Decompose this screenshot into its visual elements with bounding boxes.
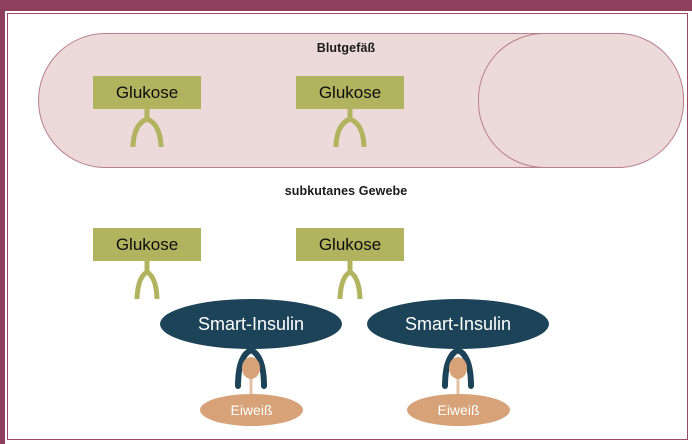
smart-insulin-unit-1: Smart-Insulin Eiweiß (160, 299, 342, 424)
frame-left-band (0, 0, 5, 444)
subcutaneous-tissue-label: subkutanes Gewebe (0, 184, 692, 198)
smart-insulin-unit-2: Smart-Insulin Eiweiß (367, 299, 549, 424)
glucose-unit-vessel-1: Glukose (93, 76, 201, 148)
glucose-label: Glukose (93, 76, 201, 109)
protein-label: Eiweiß (200, 394, 303, 426)
diagram-canvas: Blutgefäß Glukose Glukose subkutanes Gew… (0, 0, 692, 444)
glucose-unit-tissue-1: Glukose (93, 228, 201, 300)
glucose-receptor-icon (123, 107, 171, 147)
insulin-receptor-icon (430, 336, 486, 394)
glucose-unit-tissue-2: Glukose (296, 228, 404, 300)
glucose-label: Glukose (93, 228, 201, 261)
glucose-label: Glukose (296, 228, 404, 261)
glucose-receptor-icon (326, 107, 374, 147)
glucose-unit-vessel-2: Glukose (296, 76, 404, 148)
protein-label: Eiweiß (407, 394, 510, 426)
insulin-receptor-icon (223, 336, 279, 394)
glucose-receptor-icon (326, 259, 374, 299)
frame-top-band (0, 0, 692, 11)
blood-vessel-label: Blutgefäß (0, 41, 692, 55)
glucose-receptor-icon (123, 259, 171, 299)
glucose-label: Glukose (296, 76, 404, 109)
